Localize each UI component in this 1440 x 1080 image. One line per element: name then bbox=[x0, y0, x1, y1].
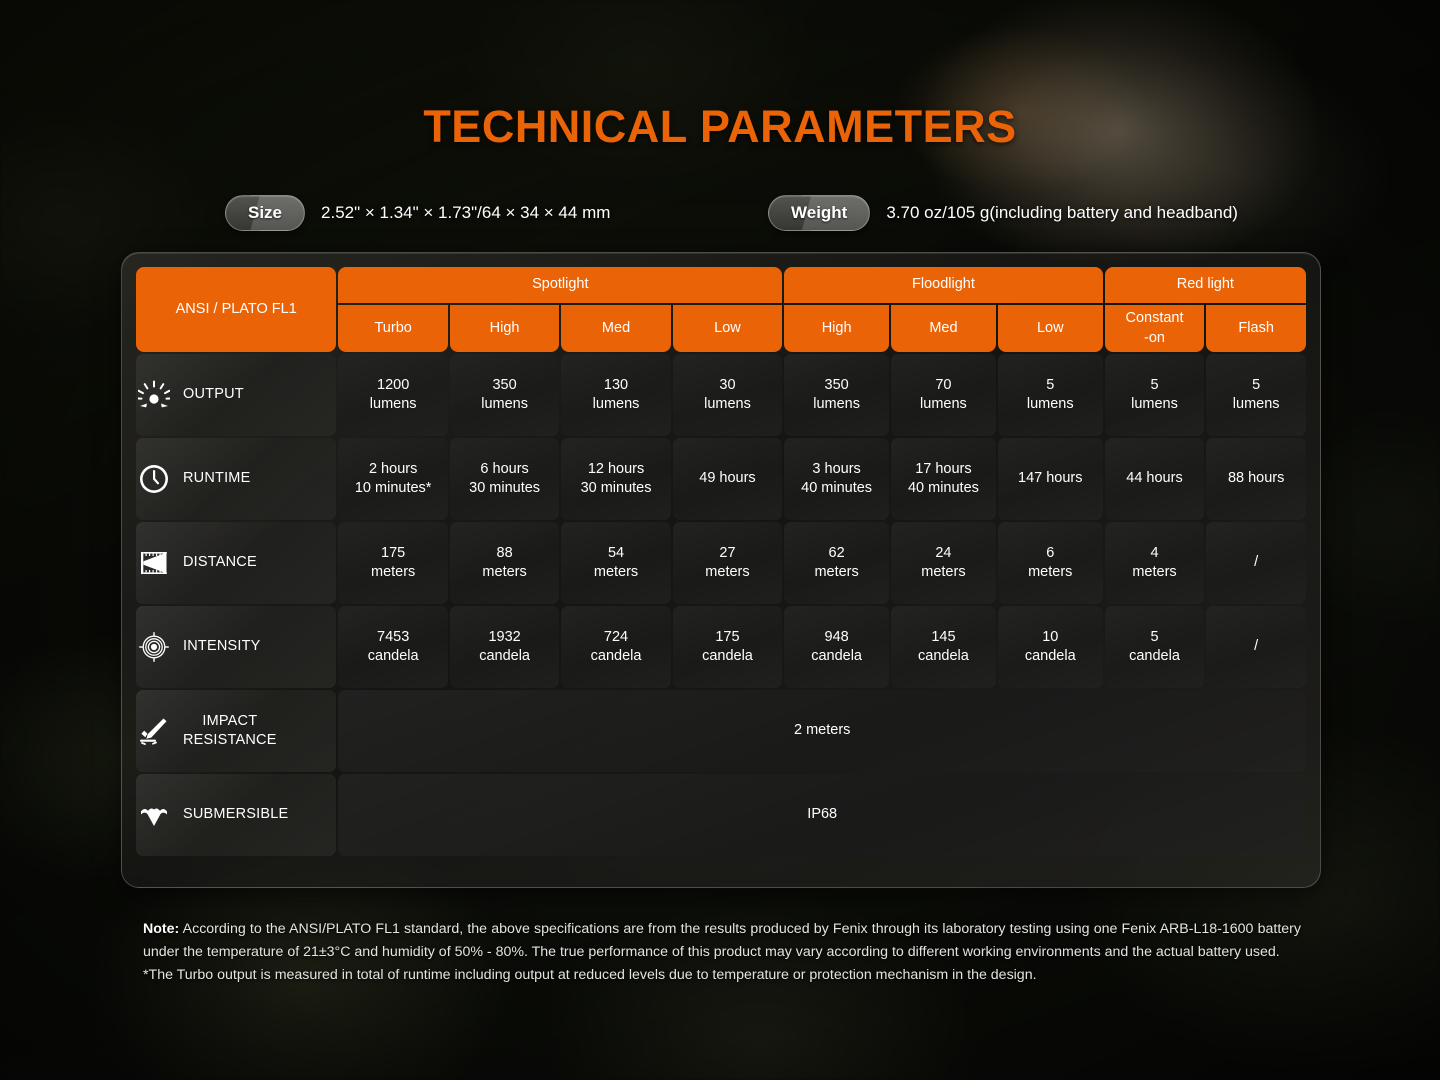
cell-runtime-spotlight-med: 12 hours 30 minutes bbox=[561, 438, 670, 520]
cell-distance-floodlight-low: 6 meters bbox=[998, 522, 1103, 604]
cell-distance-red-constant-on: 4 meters bbox=[1105, 522, 1205, 604]
cell-intensity-red-flash: / bbox=[1206, 606, 1306, 688]
table-row: OUTPUT 1200 lumens 350 lumens 130 lumens… bbox=[136, 354, 1306, 436]
row-label-intensity: INTENSITY bbox=[136, 606, 336, 688]
header-col-spotlight-turbo: Turbo bbox=[338, 305, 447, 352]
header-col-spotlight-high: High bbox=[450, 305, 559, 352]
header-group-floodlight: Floodlight bbox=[784, 267, 1102, 303]
cell-submersible-value: IP68 bbox=[338, 774, 1306, 856]
row-label-text: RUNTIME bbox=[183, 469, 250, 489]
row-label-submersible: SUBMERSIBLE bbox=[136, 774, 336, 856]
row-label-runtime: RUNTIME bbox=[136, 438, 336, 520]
header-col-floodlight-high: High bbox=[784, 305, 889, 352]
cell-runtime-red-constant-on: 44 hours bbox=[1105, 438, 1205, 520]
page-title: TECHNICAL PARAMETERS bbox=[0, 101, 1440, 153]
clock-icon bbox=[138, 463, 170, 495]
cell-output-red-flash: 5 lumens bbox=[1206, 354, 1306, 436]
cell-output-spotlight-high: 350 lumens bbox=[450, 354, 559, 436]
row-label-impact-resistance: IMPACT RESISTANCE bbox=[136, 690, 336, 772]
target-intensity-icon bbox=[138, 631, 170, 663]
table-row: IMPACT RESISTANCE 2 meters bbox=[136, 690, 1306, 772]
cell-runtime-spotlight-turbo: 2 hours 10 minutes* bbox=[338, 438, 447, 520]
cell-output-floodlight-high: 350 lumens bbox=[784, 354, 889, 436]
table-row: RUNTIME 2 hours 10 minutes* 6 hours 30 m… bbox=[136, 438, 1306, 520]
table-header-group-row: ANSI / PLATO FL1 Spotlight Floodlight Re… bbox=[136, 267, 1306, 303]
table-row: DISTANCE 175 meters 88 meters 54 meters … bbox=[136, 522, 1306, 604]
header-col-floodlight-low: Low bbox=[998, 305, 1103, 352]
row-label-text: IMPACT RESISTANCE bbox=[183, 712, 277, 751]
note-prefix: Note: bbox=[143, 921, 179, 937]
note-body: According to the ANSI/PLATO FL1 standard… bbox=[143, 921, 1301, 960]
cell-runtime-floodlight-low: 147 hours bbox=[998, 438, 1103, 520]
cell-output-spotlight-med: 130 lumens bbox=[561, 354, 670, 436]
cell-distance-spotlight-high: 88 meters bbox=[450, 522, 559, 604]
beam-distance-icon bbox=[138, 547, 170, 579]
header-corner-label: ANSI / PLATO FL1 bbox=[136, 267, 336, 352]
header-group-spotlight: Spotlight bbox=[338, 267, 782, 303]
spec-table: ANSI / PLATO FL1 Spotlight Floodlight Re… bbox=[134, 265, 1308, 858]
cell-runtime-floodlight-med: 17 hours 40 minutes bbox=[891, 438, 996, 520]
cell-distance-floodlight-med: 24 meters bbox=[891, 522, 996, 604]
cell-intensity-spotlight-low: 175 candela bbox=[673, 606, 782, 688]
cell-runtime-red-flash: 88 hours bbox=[1206, 438, 1306, 520]
size-badge: Size bbox=[225, 195, 305, 231]
technical-parameters-page: TECHNICAL PARAMETERS Size 2.52" × 1.34" … bbox=[0, 0, 1440, 1080]
row-label-output: OUTPUT bbox=[136, 354, 336, 436]
table-row: INTENSITY 7453 candela 1932 candela 724 … bbox=[136, 606, 1306, 688]
cell-distance-red-flash: / bbox=[1206, 522, 1306, 604]
header-col-red-constant-on: Constant -on bbox=[1105, 305, 1205, 352]
cell-impact-resistance-value: 2 meters bbox=[338, 690, 1306, 772]
cell-distance-spotlight-med: 54 meters bbox=[561, 522, 670, 604]
cell-intensity-spotlight-med: 724 candela bbox=[561, 606, 670, 688]
note-paragraph: Note: According to the ANSI/PLATO FL1 st… bbox=[143, 918, 1301, 964]
cell-runtime-floodlight-high: 3 hours 40 minutes bbox=[784, 438, 889, 520]
impact-arrow-icon bbox=[138, 715, 170, 747]
row-label-text: INTENSITY bbox=[183, 637, 261, 657]
weight-value: 3.70 oz/105 g(including battery and head… bbox=[886, 203, 1238, 223]
row-label-distance: DISTANCE bbox=[136, 522, 336, 604]
row-label-text: SUBMERSIBLE bbox=[183, 805, 288, 825]
size-spec-line: Size 2.52" × 1.34" × 1.73"/64 × 34 × 44 … bbox=[225, 195, 610, 231]
cell-intensity-floodlight-med: 145 candela bbox=[891, 606, 996, 688]
cell-distance-floodlight-high: 62 meters bbox=[784, 522, 889, 604]
cell-intensity-red-constant-on: 5 candela bbox=[1105, 606, 1205, 688]
cell-runtime-spotlight-high: 6 hours 30 minutes bbox=[450, 438, 559, 520]
cell-distance-spotlight-low: 27 meters bbox=[673, 522, 782, 604]
row-label-text: OUTPUT bbox=[183, 385, 244, 405]
header-col-red-flash: Flash bbox=[1206, 305, 1306, 352]
table-row: SUBMERSIBLE IP68 bbox=[136, 774, 1306, 856]
cell-output-floodlight-med: 70 lumens bbox=[891, 354, 996, 436]
cell-intensity-floodlight-high: 948 candela bbox=[784, 606, 889, 688]
water-drop-icon bbox=[138, 799, 170, 831]
size-value: 2.52" × 1.34" × 1.73"/64 × 34 × 44 mm bbox=[321, 203, 610, 223]
cell-output-spotlight-turbo: 1200 lumens bbox=[338, 354, 447, 436]
footnote-block: Note: According to the ANSI/PLATO FL1 st… bbox=[143, 918, 1301, 987]
cell-distance-spotlight-turbo: 175 meters bbox=[338, 522, 447, 604]
cell-output-spotlight-low: 30 lumens bbox=[673, 354, 782, 436]
sunburst-icon bbox=[138, 379, 170, 411]
header-group-red-light: Red light bbox=[1105, 267, 1306, 303]
weight-spec-line: Weight 3.70 oz/105 g(including battery a… bbox=[768, 195, 1238, 231]
weight-badge: Weight bbox=[768, 195, 870, 231]
cell-intensity-floodlight-low: 10 candela bbox=[998, 606, 1103, 688]
header-col-floodlight-med: Med bbox=[891, 305, 996, 352]
spec-table-panel: ANSI / PLATO FL1 Spotlight Floodlight Re… bbox=[121, 252, 1321, 888]
header-col-spotlight-low: Low bbox=[673, 305, 782, 352]
note-footnote: *The Turbo output is measured in total o… bbox=[143, 964, 1301, 987]
cell-intensity-spotlight-high: 1932 candela bbox=[450, 606, 559, 688]
cell-output-red-constant-on: 5 lumens bbox=[1105, 354, 1205, 436]
cell-intensity-spotlight-turbo: 7453 candela bbox=[338, 606, 447, 688]
header-col-spotlight-med: Med bbox=[561, 305, 670, 352]
cell-output-floodlight-low: 5 lumens bbox=[998, 354, 1103, 436]
row-label-text: DISTANCE bbox=[183, 553, 257, 573]
cell-runtime-spotlight-low: 49 hours bbox=[673, 438, 782, 520]
